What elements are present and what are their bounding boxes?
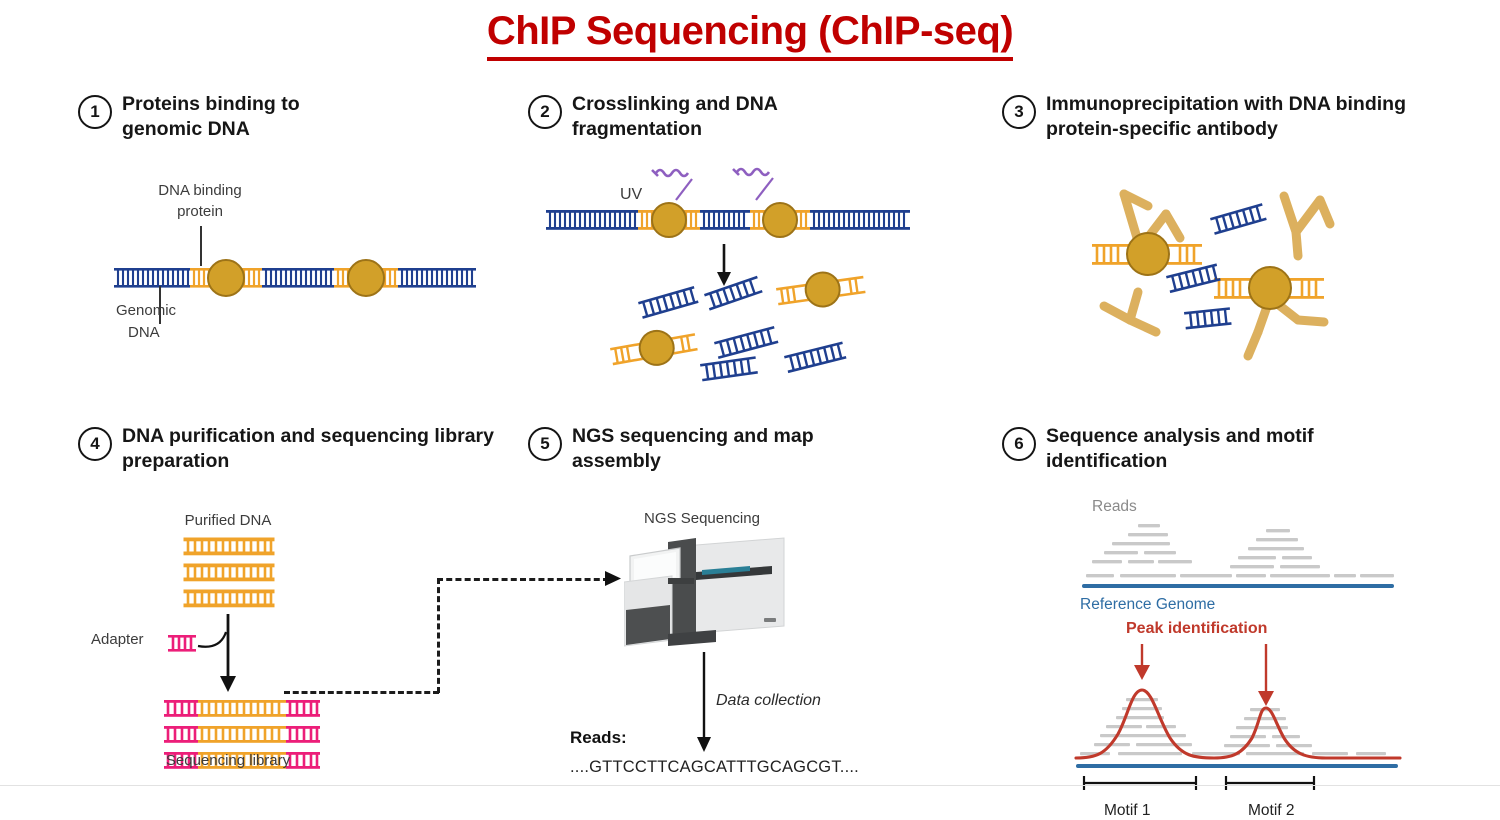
step-2-illustration: UV: [528, 164, 958, 384]
step-5-number: 5: [528, 427, 562, 461]
adapter-label: Adapter: [91, 631, 144, 648]
dna-fragment-icon: [1166, 263, 1221, 293]
peak-chart-icon: [1074, 642, 1404, 792]
genomic-dna-label-line1: Genomic: [116, 302, 176, 319]
step-4-header: 4 DNA purification and sequencing librar…: [78, 424, 518, 474]
step-2-number: 2: [528, 95, 562, 129]
step-1-illustration: DNA binding protein: [78, 182, 498, 372]
connector-segment-h1: [284, 691, 439, 694]
step-4-number: 4: [78, 427, 112, 461]
sequencing-library-label: Sequencing library: [166, 752, 290, 769]
step-2-header: 2 Crosslinking and DNA fragmentation: [528, 92, 958, 142]
crosslinking-fragmentation-icon: [528, 164, 958, 384]
panel-step-4: 4 DNA purification and sequencing librar…: [78, 424, 518, 774]
antibody-y-icon: [1104, 292, 1156, 332]
step-1-title: Proteins binding to genomic DNA: [122, 92, 382, 142]
panel-step-3: 3 Immunoprecipitation with DNA binding p…: [1002, 92, 1432, 382]
step-1-header: 1 Proteins binding to genomic DNA: [78, 92, 498, 142]
genomic-dna-label-line2: DNA: [128, 324, 160, 341]
step-4-illustration: Purified DNA: [78, 494, 518, 774]
reference-genome-label: Reference Genome: [1080, 596, 1215, 614]
step-6-illustration: Reads: [1060, 490, 1440, 780]
step-6-header: 6 Sequence analysis and motif identifica…: [1002, 424, 1442, 474]
connector-segment-v: [437, 578, 440, 693]
panel-step-2: 2 Crosslinking and DNA fragmentation UV: [528, 92, 958, 382]
read-pileup-icon: [1080, 520, 1400, 602]
title-container: ChIP Sequencing (ChIP-seq): [0, 8, 1500, 61]
step-4-title: DNA purification and sequencing library …: [122, 424, 494, 474]
dna-fragments-group: [608, 267, 866, 382]
reads-sequence: ....GTTCCTTCAGCATTTGCAGCGT....: [570, 758, 859, 777]
reads-stack-label: Reads: [1092, 498, 1137, 516]
step-6-title: Sequence analysis and motif identificati…: [1046, 424, 1376, 474]
step-3-header: 3 Immunoprecipitation with DNA binding p…: [1002, 92, 1432, 142]
step-3-illustration: [1062, 180, 1402, 380]
data-collection-label: Data collection: [716, 692, 821, 710]
ngs-sequencer-icon: [624, 534, 824, 654]
step-5-illustration: NGS Sequencing: [528, 494, 968, 774]
dna-binding-protein-label-line1: DNA binding: [158, 182, 241, 199]
step-3-title: Immunoprecipitation with DNA binding pro…: [1046, 92, 1418, 142]
peak-identification-label: Peak identification: [1126, 620, 1267, 638]
adapter-icon: [168, 635, 196, 652]
library-prep-icon: [78, 494, 518, 774]
motif-2-label: Motif 2: [1248, 802, 1295, 820]
panel-step-1: 1 Proteins binding to genomic DNA DNA bi…: [78, 92, 498, 372]
ngs-sequencing-label: NGS Sequencing: [644, 510, 760, 527]
motif-1-label: Motif 1: [1104, 802, 1151, 820]
panel-step-5: 5 NGS sequencing and map assembly NGS Se…: [528, 424, 968, 774]
immunoprecipitation-icon: [1062, 180, 1402, 380]
step-6-number: 6: [1002, 427, 1036, 461]
dna-fragment-icon: [1184, 307, 1232, 329]
dna-fragment-icon: [1210, 203, 1267, 235]
reads-label: Reads:: [570, 728, 627, 748]
dna-binding-protein-label-line2: protein: [177, 203, 223, 220]
antibody-y-icon: [1284, 196, 1330, 256]
panel-step-6: 6 Sequence analysis and motif identifica…: [1002, 424, 1442, 774]
down-arrow-icon: [220, 614, 236, 692]
step-5-header: 5 NGS sequencing and map assembly: [528, 424, 968, 474]
uv-ray-icon: [652, 169, 773, 200]
adapter-connector-line: [198, 632, 226, 647]
step-1-number: 1: [78, 95, 112, 129]
page-title: ChIP Sequencing (ChIP-seq): [487, 8, 1013, 61]
step-3-number: 3: [1002, 95, 1036, 129]
step-2-title: Crosslinking and DNA fragmentation: [572, 92, 827, 142]
diagram-canvas: ChIP Sequencing (ChIP-seq) 1 Proteins bi…: [0, 0, 1500, 786]
down-arrow-icon: [717, 244, 731, 286]
step-5-title: NGS sequencing and map assembly: [572, 424, 862, 474]
purified-dna-fragments: [184, 538, 274, 607]
